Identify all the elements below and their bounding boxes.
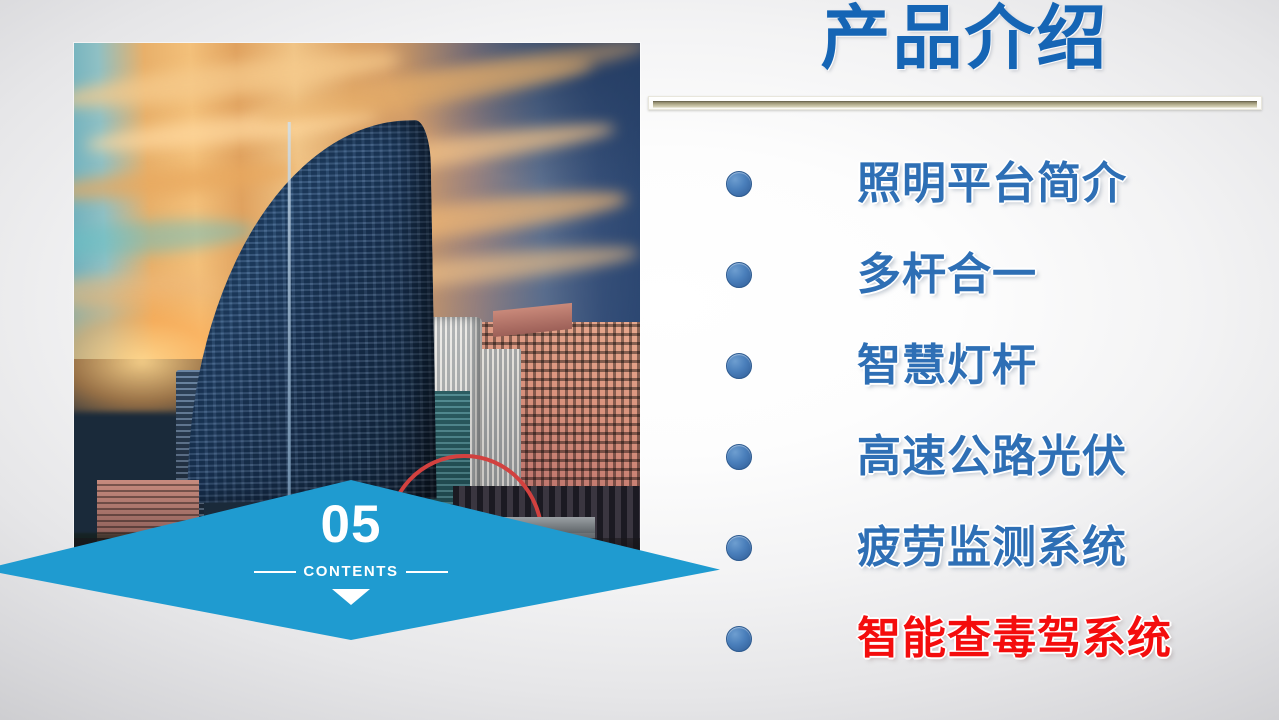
list-item[interactable]: 智能查毒驾系统 (700, 593, 1279, 684)
bullet-dot-icon (726, 262, 752, 288)
list-item-label: 疲劳监测系统 (857, 526, 1127, 570)
slide-canvas: 05 CONTENTS 产品介绍 照明平台简介 多杆合一 智慧灯杆 高速公 (0, 0, 1279, 720)
list-item[interactable]: 疲劳监测系统 (700, 502, 1279, 593)
contents-label: CONTENTS (303, 563, 398, 580)
bullet-dot-icon (726, 353, 752, 379)
title-divider (648, 96, 1262, 110)
contents-label-row: CONTENTS (254, 563, 447, 580)
agenda-list: 照明平台简介 多杆合一 智慧灯杆 高速公路光伏 疲劳监测系统 智能查毒驾系统 (700, 138, 1279, 684)
contents-number: 05 (321, 498, 382, 551)
bullet-dot-icon (726, 171, 752, 197)
triangle-down-icon (332, 589, 370, 605)
list-item[interactable]: 多杆合一 (700, 229, 1279, 320)
list-item[interactable]: 智慧灯杆 (700, 320, 1279, 411)
skyscraper-edge-highlight (288, 122, 291, 501)
list-item-label: 照明平台简介 (857, 162, 1127, 206)
bullet-dot-icon (726, 626, 752, 652)
list-item[interactable]: 照明平台简介 (700, 138, 1279, 229)
bullet-dot-icon (726, 535, 752, 561)
list-item-label: 高速公路光伏 (857, 435, 1127, 479)
rule-right-icon (406, 571, 448, 573)
bullet-dot-icon (726, 444, 752, 470)
list-item-label: 多杆合一 (857, 253, 1037, 297)
list-item-label: 智能查毒驾系统 (857, 617, 1172, 661)
list-item[interactable]: 高速公路光伏 (700, 411, 1279, 502)
page-title: 产品介绍 (650, 2, 1279, 76)
list-item-label: 智慧灯杆 (857, 344, 1037, 388)
rule-left-icon (254, 571, 296, 573)
